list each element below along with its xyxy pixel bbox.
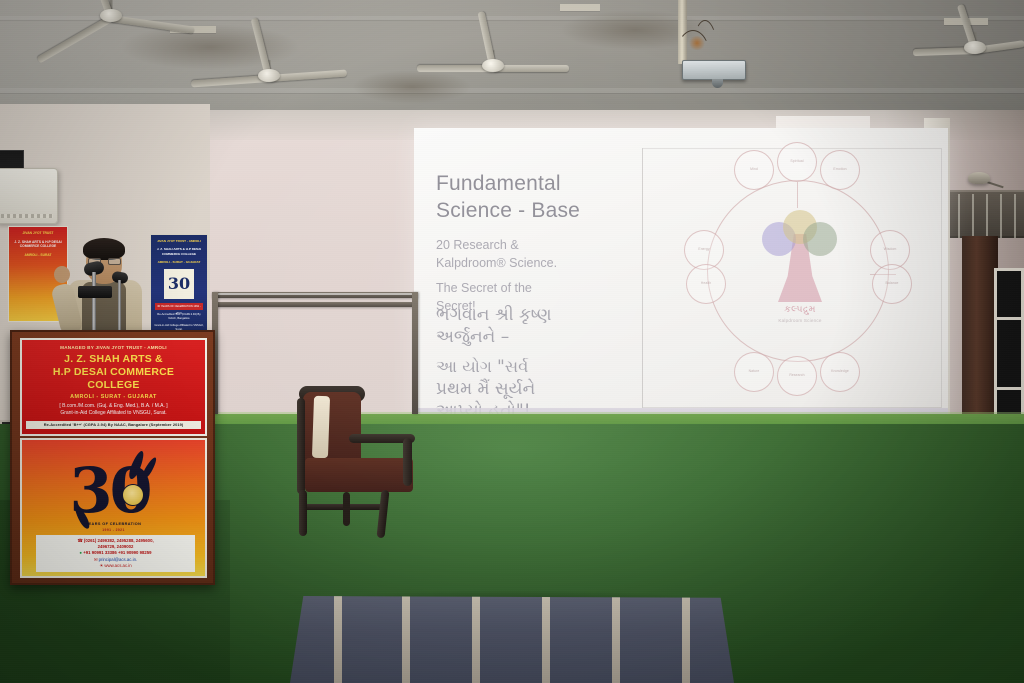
gujarati-line-2: અર્જુનને – bbox=[436, 326, 686, 348]
globe-icon: ☀ bbox=[99, 563, 103, 568]
grille-bar bbox=[958, 194, 960, 238]
microphone-stand bbox=[92, 272, 96, 334]
node-label: Balance bbox=[886, 282, 899, 286]
banner-courses: [ B.com./M.com. (Guj. & Eng. Med.), B.A.… bbox=[26, 403, 201, 417]
telephone-icon: ☎ bbox=[77, 538, 82, 543]
chair-leg-back bbox=[377, 490, 390, 539]
poster-blue-line1: JIVAN JYOT TRUST - AMROLI bbox=[151, 235, 207, 243]
diagram-node-0: Mind bbox=[734, 150, 774, 190]
logo-years: 1991 - 2021 bbox=[64, 528, 164, 532]
window-mullion bbox=[997, 317, 1021, 320]
microphone-stand-2 bbox=[118, 280, 121, 332]
fan-hub bbox=[258, 69, 280, 82]
fan-hub bbox=[100, 9, 122, 22]
projector-body bbox=[682, 60, 746, 80]
ceiling-beam bbox=[0, 16, 1024, 20]
mat-stripe bbox=[402, 596, 410, 683]
logo-seal bbox=[122, 484, 144, 506]
fan-hub bbox=[964, 41, 986, 54]
node-label: Spiritual bbox=[790, 160, 803, 164]
mat-stripe bbox=[542, 596, 550, 683]
ceiling-beam bbox=[0, 88, 1024, 93]
poster-red-line1: JIVAN JYOT TRUST bbox=[9, 227, 67, 236]
auditorium-photo: Fundamental Science - Base 20 Research &… bbox=[0, 0, 1024, 683]
stage-chair bbox=[283, 392, 429, 542]
air-conditioner bbox=[0, 168, 58, 224]
podium: MANAGED BY JIVAN JYOT TRUST - AMROLI J. … bbox=[10, 330, 215, 585]
chair-cushion bbox=[312, 396, 330, 459]
ceiling-fan bbox=[268, 74, 269, 75]
banner-accreditation: Re-Accredited 'B++' (CGPA 2.94) By NAAC,… bbox=[26, 421, 201, 429]
grille-bar bbox=[972, 194, 974, 238]
diagram-node-7: Nature bbox=[734, 352, 774, 392]
diagram-petal-right bbox=[803, 222, 837, 256]
grille-bar bbox=[1000, 194, 1002, 238]
node-label: Nature bbox=[749, 370, 760, 374]
logo-digit-3: 3 bbox=[70, 460, 113, 522]
node-label: Wisdom bbox=[884, 248, 897, 252]
chair-arm-post bbox=[403, 438, 412, 486]
anniversary-logo: 3 0 YEARS OF CELEBRATION 1991 - 2021 bbox=[54, 452, 174, 534]
contact-mobile-line: +91 90991 33386 +91 90990 98259 bbox=[83, 550, 151, 555]
frame-top-shine bbox=[216, 293, 414, 295]
chair-left-rail bbox=[297, 398, 305, 494]
banner-name-line2: H.P DESAI COMMERCE COLLEGE bbox=[53, 366, 174, 391]
anniversary-banner: 3 0 YEARS OF CELEBRATION 1991 - 2021 ☎ (… bbox=[20, 438, 207, 578]
node-label: Mind bbox=[750, 168, 758, 172]
slide-title: Fundamental Science - Base bbox=[436, 170, 656, 225]
fan-hub bbox=[482, 59, 504, 72]
poster-blue-emblem: 30 bbox=[164, 269, 194, 299]
chair-leg-front bbox=[299, 490, 307, 536]
chair-seat bbox=[305, 458, 413, 492]
contact-website: ☀ www.acs.ac.in bbox=[38, 563, 193, 569]
ac-vent bbox=[1, 214, 53, 218]
projection-screen: Fundamental Science - Base 20 Research &… bbox=[414, 128, 948, 424]
grille-bar bbox=[1014, 194, 1016, 238]
diagram-center-sublabel: Kalpdroom Science bbox=[740, 318, 860, 323]
diagram-center-label: કલ્પદ્રુમ bbox=[750, 304, 850, 315]
slide-sub-line1: 20 Research & Kalpdroom® Science. bbox=[436, 236, 646, 272]
mat-stripe bbox=[682, 596, 690, 683]
wall-lamp bbox=[968, 172, 990, 184]
speaker-hair bbox=[83, 238, 125, 260]
slide-gujarati-text: ભગવાન શ્રી કૃષ્ણ અર્જુનને – આ યોગ "સર્વ … bbox=[436, 304, 686, 422]
diagram-node-1: Spiritual bbox=[777, 142, 817, 182]
banner-managed-by: MANAGED BY JIVAN JYOT TRUST - AMROLI bbox=[26, 345, 201, 350]
diagram-node-2: Emotion bbox=[820, 150, 860, 190]
node-label: Research bbox=[789, 374, 804, 378]
fan-blade bbox=[493, 65, 569, 72]
slide-sub-text1: 20 Research & bbox=[436, 238, 519, 252]
ceiling-fan bbox=[492, 64, 493, 65]
poster-blue-line2: J. Z. SHAH ARTS & H.P DESAI COMMERCE COL… bbox=[151, 243, 207, 256]
speaker-hand bbox=[54, 266, 70, 283]
wall-poster-blue: JIVAN JYOT TRUST - AMROLI J. Z. SHAH ART… bbox=[150, 234, 208, 340]
poster-blue-bar: 30 YEARS OF CELEBRATION 1991 - 2021 bbox=[155, 303, 203, 310]
whatsapp-icon: ● bbox=[79, 550, 82, 555]
banner-courses-line2: Grant-in-Aid College Affiliated to VNSGU… bbox=[60, 410, 166, 416]
node-label: Energy bbox=[698, 248, 709, 252]
diagram-node-6: Balance bbox=[872, 264, 912, 304]
ceiling-light-panel bbox=[560, 4, 600, 11]
diagram-node-8: Research bbox=[777, 356, 817, 396]
slide-sub-text3: The Secret of the bbox=[436, 281, 532, 295]
poster-blue-line3: AMROLI - SURAT - GUJARAT bbox=[151, 256, 207, 264]
ceiling-fitting bbox=[688, 36, 706, 50]
mat-stripe bbox=[472, 596, 480, 683]
grille-bar bbox=[986, 194, 988, 238]
gujarati-line-1: ભગવાન શ્રી કૃષ્ણ bbox=[436, 304, 686, 326]
banner-name-line1: J. Z. SHAH ARTS & bbox=[64, 353, 163, 365]
college-banner: MANAGED BY JIVAN JYOT TRUST - AMROLI J. … bbox=[20, 338, 207, 436]
window-mullion bbox=[997, 387, 1021, 390]
chair-leg-mid bbox=[343, 492, 350, 526]
frame-top-bar2 bbox=[216, 302, 414, 307]
kalpdroom-diagram: Mind Spiritual Emotion Energy Health Wis… bbox=[672, 156, 922, 400]
contact-email-text: principal@acs.ac.in. bbox=[99, 557, 138, 562]
slide-title-line2: Science - Base bbox=[436, 199, 580, 222]
glasses-lens-right bbox=[108, 258, 121, 265]
slide-title-line1: Fundamental bbox=[436, 172, 561, 195]
envelope-icon: ✉ bbox=[94, 557, 98, 562]
node-label: Emotion bbox=[833, 168, 846, 172]
banner-college-name: J. Z. SHAH ARTS & H.P DESAI COMMERCE COL… bbox=[26, 353, 201, 391]
node-label: Knowledge bbox=[831, 370, 849, 374]
contact-website-text: www.acs.ac.in bbox=[104, 563, 131, 568]
contact-phone-line1: (0261) 2499382, 2495288, 2495600, bbox=[84, 538, 154, 543]
ceiling-stain bbox=[352, 70, 472, 104]
diagram-spoke bbox=[797, 182, 798, 208]
contact-block: ☎ (0261) 2499382, 2495288, 2495600, 2496… bbox=[36, 535, 195, 572]
floor-mat bbox=[290, 596, 734, 683]
ceiling-fan bbox=[974, 46, 975, 47]
mat-stripe bbox=[334, 596, 342, 683]
banner-location: AMROLI - SURAT - GUJARAT bbox=[26, 394, 201, 400]
diagram-node-9: Knowledge bbox=[820, 352, 860, 392]
ceiling-fan bbox=[110, 14, 111, 15]
gujarati-line-3: આ યોગ "સર્વ bbox=[436, 356, 686, 377]
mat-stripe bbox=[612, 596, 620, 683]
microphone-base bbox=[78, 286, 112, 298]
diagram-node-4: Health bbox=[686, 264, 726, 304]
banner-courses-line1: [ B.com./M.com. (Guj. & Eng. Med.), B.A.… bbox=[59, 403, 167, 409]
logo-caption: YEARS OF CELEBRATION bbox=[64, 522, 164, 526]
gujarati-line-4: પ્રથમ મૈં સૂર્યને bbox=[436, 378, 686, 400]
node-label: Health bbox=[701, 282, 711, 286]
slide-sub-text2: Kalpdroom® Science. bbox=[436, 256, 557, 270]
